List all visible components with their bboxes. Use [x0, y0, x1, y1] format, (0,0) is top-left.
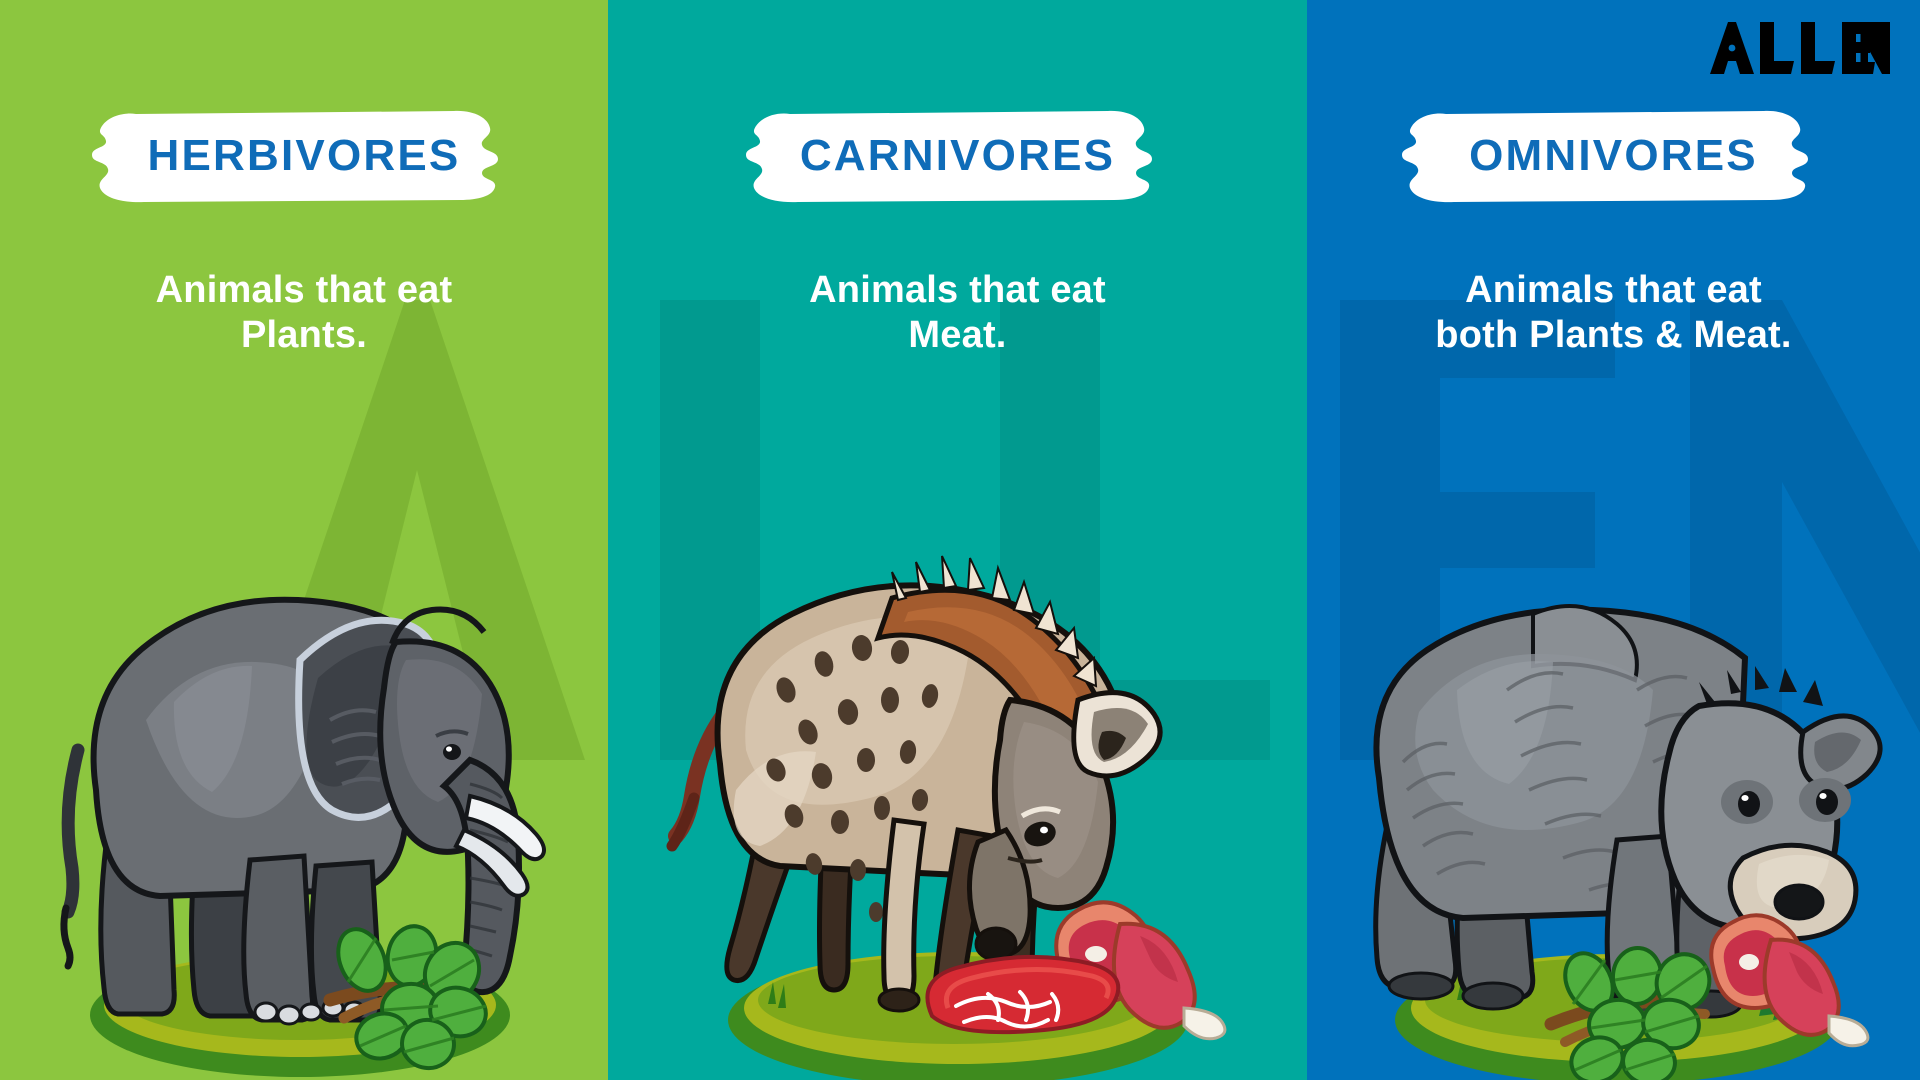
carnivore-subtitle-line1: Animals that eat	[608, 268, 1307, 313]
omnivore-banner: OMNIVORES	[1307, 108, 1920, 204]
omnivore-subtitle-line1: Animals that eat	[1307, 268, 1920, 313]
herbivore-banner: HERBIVORES	[0, 108, 608, 204]
omnivore-subtitle: Animals that eat both Plants & Meat.	[1307, 268, 1920, 358]
herbivore-illustration	[0, 360, 608, 1080]
carnivore-title: CARNIVORES	[608, 108, 1307, 204]
herbivore-content: HERBIVORES Animals that eat Plants.	[0, 0, 608, 1080]
carnivore-illustration	[608, 360, 1307, 1080]
omnivore-content: OMNIVORES Animals that eat both Plants &…	[1307, 0, 1920, 1080]
herbivore-title: HERBIVORES	[0, 108, 608, 204]
carnivore-subtitle: Animals that eat Meat.	[608, 268, 1307, 358]
infographic-root: HERBIVORES Animals that eat Plants.	[0, 0, 1920, 1080]
herbivore-subtitle-line2: Plants.	[0, 313, 608, 358]
omnivore-illustration	[1307, 360, 1920, 1080]
herbivore-subtitle-line1: Animals that eat	[0, 268, 608, 313]
bone	[1184, 1008, 1225, 1039]
omnivore-subtitle-line2: both Plants & Meat.	[1307, 313, 1920, 358]
hyena-nose	[976, 928, 1016, 960]
herbivore-subtitle: Animals that eat Plants.	[0, 268, 608, 358]
bone	[1829, 1016, 1868, 1046]
carnivore-banner: CARNIVORES	[608, 108, 1307, 204]
omnivore-title: OMNIVORES	[1307, 108, 1920, 204]
bear-nose	[1775, 885, 1823, 919]
carnivore-content: CARNIVORES Animals that eat Meat.	[608, 0, 1307, 1080]
carnivore-subtitle-line2: Meat.	[608, 313, 1307, 358]
